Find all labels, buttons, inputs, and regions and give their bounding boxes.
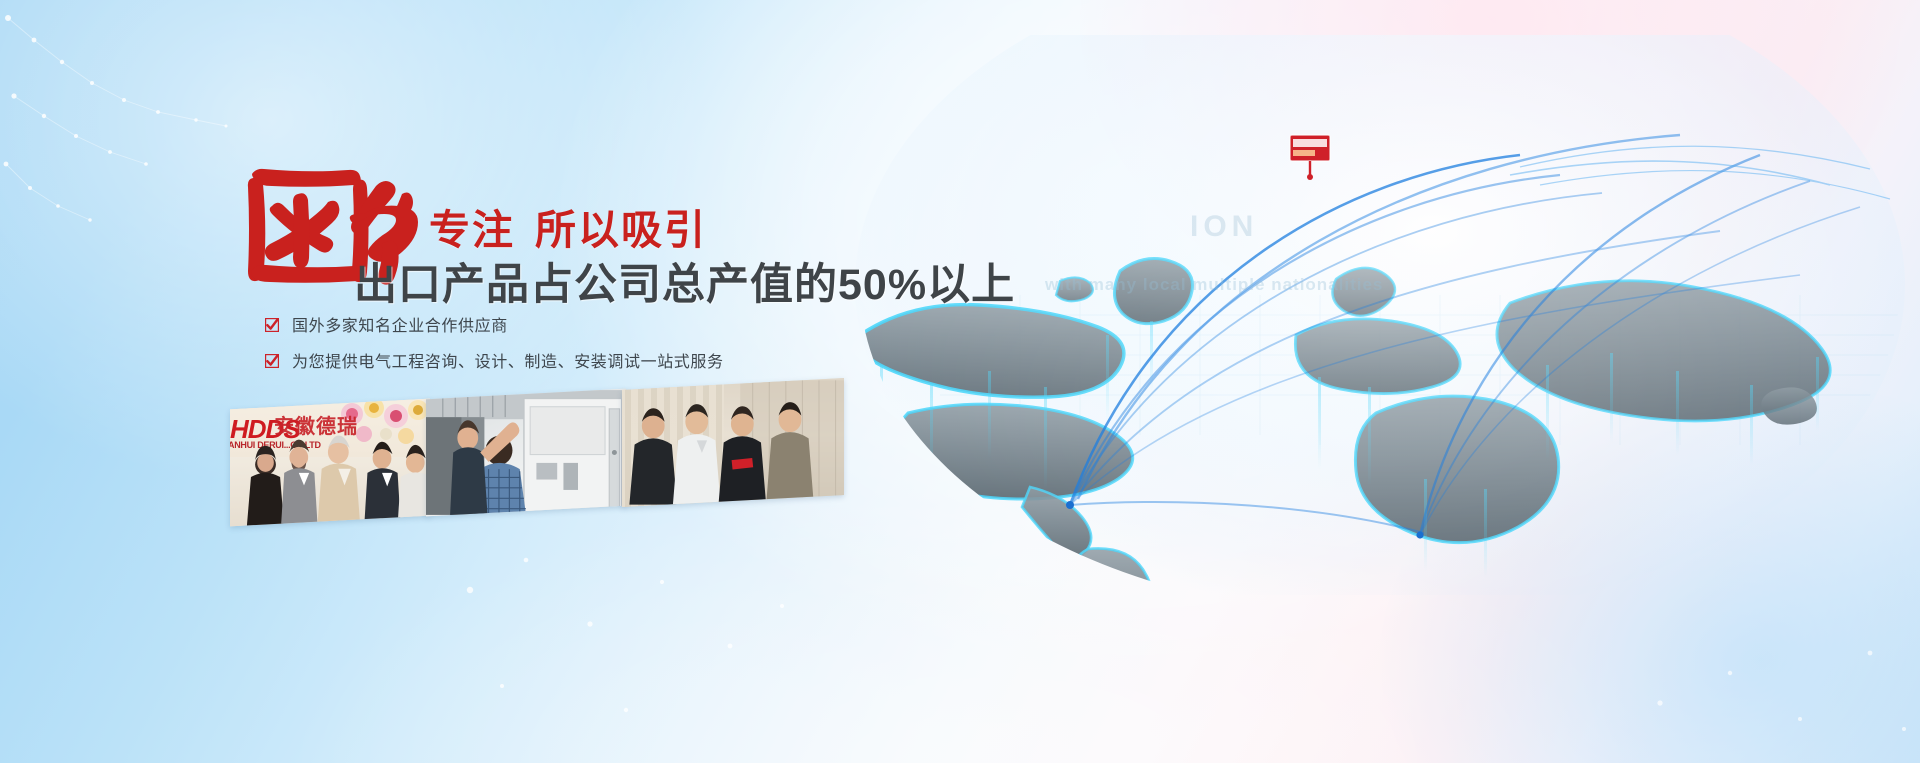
headline-red-part1: 专注 [429, 207, 515, 253]
factory-technician-photo[interactable] [426, 389, 626, 517]
promo-banner: ION with many local multiple nationaliti… [0, 0, 1920, 763]
photo-strip: HDDS ANHUI DERUI...GY LTD 安徽德瑞 [228, 400, 848, 528]
bullet-label: 国外多家知名企业合作供应商 [292, 312, 508, 336]
headline-main-line: 出口产品占公司总产值的50%以上 [354, 250, 1015, 312]
checkbox-check-icon [265, 318, 279, 332]
world-globe-graphic [820, 35, 1920, 595]
overseas-team-photo[interactable] [622, 378, 844, 507]
list-item: 国外多家知名企业合作供应商 [265, 312, 724, 336]
headline-red-part2: 所以吸引 [535, 207, 707, 253]
checkbox-check-icon [265, 354, 279, 368]
list-item: 为您提供电气工程咨询、设计、制造、安装调试一站式服务 [265, 348, 724, 372]
dot-constellation-bottom-icon [430, 520, 810, 760]
team-group-silhouette [622, 378, 844, 507]
headline-block: 专注所以吸引 出口产品占公司总产值的50%以上 [236, 158, 996, 298]
award-ceremony-photo[interactable]: HDDS ANHUI DERUI...GY LTD 安徽德瑞 [230, 399, 430, 527]
control-cabinet-scene [426, 389, 626, 517]
people-group-silhouette [230, 399, 430, 527]
headline-red-line: 专注所以吸引 [429, 196, 707, 256]
bullet-label: 为您提供电气工程咨询、设计、制造、安装调试一站式服务 [292, 348, 724, 372]
ghost-headline-2: with many local multiple nationalities [1045, 275, 1383, 295]
feature-bullet-list: 国外多家知名企业合作供应商 为您提供电气工程咨询、设计、制造、安装调试一站式服务 [265, 312, 724, 384]
ghost-headline-1: ION [1190, 210, 1258, 244]
